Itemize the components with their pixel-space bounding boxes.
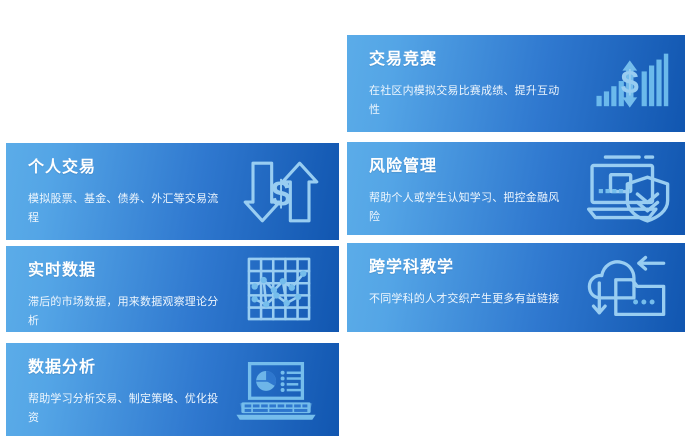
card-content: 数据分析 帮助学习分析交易、制定策略、优化投资 xyxy=(6,343,339,436)
feature-card-realtime-data[interactable]: 实时数据 滞后的市场数据，用来数据观察理论分析 xyxy=(6,246,339,332)
feature-cards-board: 交易竞赛 在社区内模拟交易比赛成绩、提升互动性 $ xyxy=(0,0,693,441)
feature-card-trading-competition[interactable]: 交易竞赛 在社区内模拟交易比赛成绩、提升互动性 $ xyxy=(347,35,685,132)
laptop-pie-chart-icon xyxy=(233,357,319,423)
feature-card-personal-trading[interactable]: 个人交易 模拟股票、基金、债券、外汇等交易流程 $ xyxy=(6,143,339,240)
card-description: 不同学科的人才交织产生更多有益链接 xyxy=(369,290,569,309)
card-content: 跨学科教学 不同学科的人才交织产生更多有益链接 xyxy=(347,243,685,332)
grid-network-scatter-icon xyxy=(247,257,311,321)
bar-chart-dollar-arrows-icon: $ xyxy=(593,47,671,121)
card-description: 在社区内模拟交易比赛成绩、提升互动性 xyxy=(369,82,569,120)
down-up-arrows-dollar-icon: $ xyxy=(241,157,321,227)
card-description: 帮助个人或学生认知学习、把控金融风险 xyxy=(369,189,569,227)
card-content: 个人交易 模拟股票、基金、债券、外汇等交易流程 $ xyxy=(6,143,339,240)
card-description: 滞后的市场数据，用来数据观察理论分析 xyxy=(28,293,228,331)
card-description: 帮助学习分析交易、制定策略、优化投资 xyxy=(28,390,228,428)
feature-card-data-analysis[interactable]: 数据分析 帮助学习分析交易、制定策略、优化投资 xyxy=(6,343,339,436)
feature-card-risk-management[interactable]: 风险管理 帮助个人或学生认知学习、把控金融风险 xyxy=(347,142,685,235)
monitor-shield-icon xyxy=(587,152,671,226)
svg-text:$: $ xyxy=(621,63,639,99)
card-content: 交易竞赛 在社区内模拟交易比赛成绩、提升互动性 $ xyxy=(347,35,685,132)
svg-text:$: $ xyxy=(271,174,291,214)
card-content: 风险管理 帮助个人或学生认知学习、把控金融风险 xyxy=(347,142,685,235)
card-description: 模拟股票、基金、债券、外汇等交易流程 xyxy=(28,190,228,228)
feature-card-cross-disciplinary-teaching[interactable]: 跨学科教学 不同学科的人才交织产生更多有益链接 xyxy=(347,243,685,332)
cloud-folder-transfer-icon xyxy=(587,255,671,321)
card-content: 实时数据 滞后的市场数据，用来数据观察理论分析 xyxy=(6,246,339,332)
